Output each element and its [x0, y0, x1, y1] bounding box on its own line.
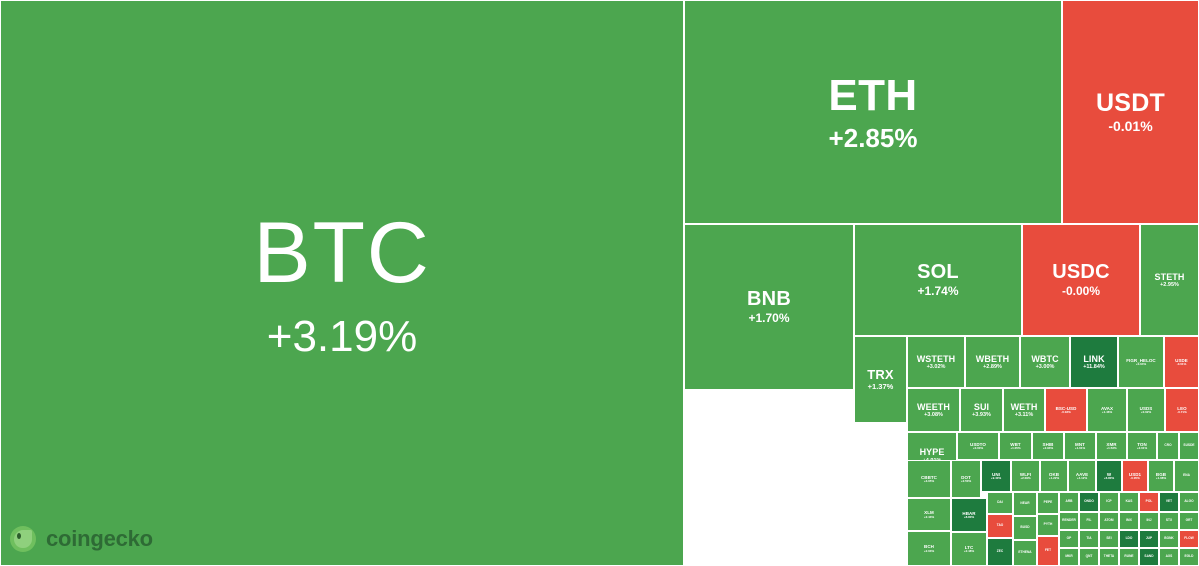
tile-symbol: NEAR: [1020, 502, 1029, 506]
treemap-tile-imx[interactable]: IMX+2.70%: [1119, 512, 1139, 530]
tile-symbol: STX: [1166, 519, 1172, 523]
treemap-tile-ethena[interactable]: ETHENA+1.50%: [1013, 540, 1037, 566]
treemap-tile-mnt[interactable]: MNT+1.01%: [1064, 432, 1096, 460]
treemap-tile-pepe[interactable]: PEPE+2.10%: [1037, 492, 1059, 514]
tile-symbol: RENDER: [1062, 519, 1076, 523]
treemap-tile-steth[interactable]: STETH+2.95%: [1140, 224, 1199, 336]
tile-symbol: ARB: [1065, 500, 1072, 504]
tile-symbol: BONK: [1164, 537, 1174, 541]
tile-percent-change: +11.84%: [1083, 364, 1105, 370]
tile-symbol: QNT: [1086, 555, 1093, 559]
treemap-tile-qnt[interactable]: QNT+1.50%: [1079, 548, 1099, 566]
tile-symbol: ATOM: [1104, 519, 1113, 523]
treemap-tile-hbar[interactable]: HBAR+8.80%: [951, 498, 987, 532]
tile-percent-change: +0.00%: [973, 447, 983, 450]
treemap-tile-axs[interactable]: AXS+1.30%: [1159, 548, 1179, 566]
treemap-tile-flow[interactable]: FLOW-0.40%: [1179, 530, 1199, 548]
tile-symbol: SEI: [1106, 537, 1111, 541]
treemap-tile-bnb[interactable]: BNB+1.70%: [684, 224, 854, 390]
tile-percent-change: -0.01%: [1177, 363, 1187, 366]
tile-percent-change: -0.05%: [1130, 477, 1140, 480]
treemap-tile-vet[interactable]: VET+5.10%: [1159, 492, 1179, 512]
treemap-tile-wbtc[interactable]: WBTC+3.00%: [1020, 336, 1070, 388]
tile-symbol: FIL: [1087, 519, 1092, 523]
treemap-tile-inj[interactable]: INJ+3.50%: [1139, 512, 1159, 530]
treemap-tile-usd1[interactable]: USD1-0.05%: [1122, 460, 1148, 492]
treemap-tile-atom[interactable]: ATOM+1.80%: [1099, 512, 1119, 530]
tile-percent-change: +6.80%: [1104, 477, 1114, 480]
tile-symbol: BUSD: [1020, 526, 1029, 530]
treemap-tile-render[interactable]: RENDER+2.20%: [1059, 512, 1079, 530]
tile-symbol: ZEC: [997, 550, 1003, 554]
treemap-tile-jup[interactable]: JUP+2.80%: [1139, 530, 1159, 548]
treemap-tile-arb[interactable]: ARB+2.30%: [1059, 492, 1079, 512]
tile-symbol: ETHENA: [1018, 551, 1031, 555]
treemap-tile-usdto[interactable]: USDTO+0.00%: [957, 432, 999, 460]
treemap-tile-ldo[interactable]: LDO+4.20%: [1119, 530, 1139, 548]
tile-percent-change: +3.11%: [1015, 412, 1034, 418]
treemap-tile-sei[interactable]: SEI+3.10%: [1099, 530, 1119, 548]
tile-symbol: LDO: [1126, 537, 1133, 541]
tile-symbol: HYPE: [920, 447, 945, 457]
tile-symbol: BTC: [253, 205, 430, 301]
treemap-tile-kas[interactable]: KAS+2.60%: [1119, 492, 1139, 512]
tile-symbol: WETH: [1011, 402, 1038, 412]
treemap-tile-stx[interactable]: STX+1.30%: [1159, 512, 1179, 530]
tile-symbol: INJ: [1146, 519, 1151, 523]
treemap-tile-trx[interactable]: TRX+1.37%: [854, 336, 907, 423]
tile-percent-change: +4.12%: [1077, 477, 1087, 480]
tile-percent-change: +1.01%: [1075, 447, 1085, 450]
tile-symbol: USDT: [1096, 89, 1165, 117]
tile-percent-change: +1.74%: [917, 285, 958, 298]
tile-symbol: SUI: [974, 402, 989, 412]
treemap-tile-wbt[interactable]: WBT+1.05%: [999, 432, 1032, 460]
treemap-tile-busd[interactable]: BUSD+0.00%: [1013, 516, 1037, 540]
treemap-tile-w[interactable]: W+6.80%: [1096, 460, 1122, 492]
treemap-tile-wbeth[interactable]: WBETH+2.89%: [965, 336, 1020, 388]
treemap-tile-susde[interactable]: SUSDE+0.01%: [1179, 432, 1199, 460]
treemap-tile-link[interactable]: LINK+11.84%: [1070, 336, 1118, 388]
tile-symbol: OP: [1067, 537, 1072, 541]
tile-symbol: TIA: [1086, 537, 1091, 541]
tile-percent-change: +1.46%: [1102, 411, 1112, 414]
tile-symbol: LINK: [1083, 354, 1104, 364]
treemap-tile-eth[interactable]: ETH+2.85%: [684, 0, 1062, 224]
tile-percent-change: +1.53%: [1106, 447, 1116, 450]
tile-symbol: AXS: [1166, 555, 1173, 559]
treemap-tile-ena[interactable]: ENA+3.10%: [1174, 460, 1199, 492]
tile-percent-change: -0.00%: [1062, 285, 1100, 298]
tile-symbol: BNB: [747, 288, 791, 310]
tile-percent-change: +1.08%: [1156, 477, 1166, 480]
treemap-tile-weth[interactable]: WETH+3.11%: [1003, 388, 1045, 432]
tile-symbol: PEPE: [1044, 501, 1053, 505]
tile-percent-change: +2.43%: [924, 516, 934, 519]
tile-symbol: WBTC: [1031, 354, 1058, 364]
treemap-tile-ondo[interactable]: ONDO+3.40%: [1079, 492, 1099, 512]
tile-symbol: FET: [1045, 549, 1051, 553]
tile-symbol: CRO: [1164, 444, 1171, 448]
treemap-tile-op[interactable]: OP+1.90%: [1059, 530, 1079, 548]
treemap-tile-rune[interactable]: RUNE+1.70%: [1119, 548, 1139, 566]
tile-percent-change: +2.09%: [1020, 477, 1030, 480]
tile-symbol: TRX: [867, 368, 893, 383]
treemap-tile-cbbtc[interactable]: CBBTC+3.05%: [907, 460, 951, 498]
tile-percent-change: +2.93%: [1043, 447, 1053, 450]
treemap-tile-grt[interactable]: GRT+2.00%: [1179, 512, 1199, 530]
tile-symbol: JUP: [1146, 537, 1152, 541]
tile-symbol: SUSDE: [1183, 444, 1194, 448]
treemap-tile-icp[interactable]: ICP+1.20%: [1099, 492, 1119, 512]
tile-percent-change: +3.08%: [924, 412, 943, 418]
treemap-tile-mkr[interactable]: MKR+1.10%: [1059, 548, 1079, 566]
treemap-tile-xlm[interactable]: XLM+2.43%: [907, 498, 951, 531]
tile-symbol: MKR: [1065, 555, 1072, 559]
treemap-tile-uni[interactable]: UNI+9.40%: [981, 460, 1011, 492]
crypto-treemap-chart: BTC+3.19%ETH+2.85%USDT-0.01%BNB+1.70%SOL…: [0, 0, 1199, 566]
treemap-tile-usds[interactable]: USDS+0.02%: [1127, 388, 1165, 432]
treemap-tile-usdc[interactable]: USDC-0.00%: [1022, 224, 1140, 336]
tile-percent-change: -0.71%: [1177, 411, 1187, 414]
tile-percent-change: +9.40%: [991, 477, 1001, 480]
tile-percent-change: +2.50%: [961, 480, 971, 483]
treemap-tile-wsteth[interactable]: WSTETH+3.02%: [907, 336, 965, 388]
tile-symbol: FLOW: [1184, 537, 1194, 541]
tile-percent-change: +1.05%: [1010, 447, 1020, 450]
tile-percent-change: +1.37%: [868, 383, 894, 391]
tile-symbol: ETH: [828, 71, 917, 120]
tile-symbol: WEETH: [917, 402, 950, 412]
tile-symbol: DAI: [997, 501, 1003, 505]
tile-percent-change: +8.80%: [964, 516, 974, 519]
tile-symbol: ENA: [1183, 474, 1190, 478]
tile-percent-change: +2.95%: [1160, 282, 1179, 288]
treemap-tile-okb[interactable]: OKB+1.22%: [1040, 460, 1068, 492]
tile-symbol: TAO: [997, 524, 1004, 528]
tile-symbol: RUNE: [1124, 555, 1133, 559]
treemap-tile-egld[interactable]: EGLD+2.50%: [1179, 548, 1199, 566]
tile-percent-change: +2.48%: [964, 550, 974, 553]
treemap-tile-weeth[interactable]: WEETH+3.08%: [907, 388, 960, 432]
tile-symbol: POL: [1146, 500, 1153, 504]
tile-symbol: VET: [1166, 500, 1172, 504]
treemap-tile-bgb[interactable]: BGB+1.08%: [1148, 460, 1174, 492]
tile-symbol: ICP: [1106, 500, 1111, 504]
tile-percent-change: +3.19%: [267, 312, 417, 361]
tile-symbol: USDC: [1052, 261, 1109, 283]
tile-percent-change: +0.04%: [1136, 363, 1146, 366]
treemap-tile-btc[interactable]: BTC+3.19%: [0, 0, 684, 566]
treemap-tile-pol[interactable]: POL-0.90%: [1139, 492, 1159, 512]
tile-percent-change: +1.22%: [1049, 477, 1059, 480]
treemap-tile-near[interactable]: NEAR+2.00%: [1013, 492, 1037, 516]
tile-percent-change: +3.93%: [972, 412, 991, 418]
tile-percent-change: +2.01%: [1137, 447, 1147, 450]
treemap-tile-pyth[interactable]: PYTH+1.90%: [1037, 514, 1059, 536]
treemap-tile-sand[interactable]: SAND+0.90%: [1139, 548, 1159, 566]
tile-symbol: SAND: [1144, 555, 1153, 559]
treemap-tile-aave[interactable]: AAVE+4.12%: [1068, 460, 1096, 492]
tile-percent-change: +2.89%: [983, 364, 1002, 370]
tile-symbol: GRT: [1186, 519, 1193, 523]
tile-symbol: SOL: [917, 261, 959, 283]
treemap-tile-theta[interactable]: THETA+2.10%: [1099, 548, 1119, 566]
tile-symbol: IMX: [1126, 519, 1132, 523]
tile-symbol: STETH: [1155, 272, 1185, 282]
treemap-tile-fil[interactable]: FIL+1.40%: [1079, 512, 1099, 530]
tile-percent-change: +1.70%: [748, 312, 789, 325]
treemap-tile-wlfi[interactable]: WLFI+2.09%: [1011, 460, 1040, 492]
treemap-tile-bch[interactable]: BCH+2.03%: [907, 531, 951, 566]
tile-percent-change: -0.01%: [1108, 119, 1152, 135]
tile-symbol: KAS: [1126, 500, 1133, 504]
treemap-tile-bsc-usd[interactable]: BSC-USD-0.03%: [1045, 388, 1087, 432]
treemap-tile-ltc[interactable]: LTC+2.48%: [951, 532, 987, 566]
treemap-tile-xmr[interactable]: XMR+1.53%: [1096, 432, 1127, 460]
treemap-tile-shib[interactable]: SHIB+2.93%: [1032, 432, 1064, 460]
treemap-tile-zec[interactable]: ZEC+18.00%: [987, 538, 1013, 566]
tile-percent-change: +0.02%: [1141, 411, 1151, 414]
treemap-tile-tia[interactable]: TIA+2.40%: [1079, 530, 1099, 548]
tile-symbol: EGLD: [1185, 555, 1194, 559]
tile-percent-change: +3.00%: [1036, 364, 1055, 370]
tile-percent-change: +2.03%: [924, 550, 934, 553]
treemap-tile-bonk[interactable]: BONK+1.60%: [1159, 530, 1179, 548]
treemap-tile-tao[interactable]: TAO+4.60%: [987, 514, 1013, 538]
tile-percent-change: -0.03%: [1061, 411, 1071, 414]
treemap-tile-avax[interactable]: AVAX+1.46%: [1087, 388, 1127, 432]
tile-percent-change: +3.05%: [924, 480, 934, 483]
treemap-tile-usde[interactable]: USDE-0.01%: [1164, 336, 1199, 388]
tile-symbol: WBETH: [976, 354, 1009, 364]
treemap-tile-leo[interactable]: LEO-0.71%: [1165, 388, 1199, 432]
treemap-tile-ton[interactable]: TON+2.01%: [1127, 432, 1157, 460]
treemap-tile-sol[interactable]: SOL+1.74%: [854, 224, 1022, 336]
treemap-tile-fet[interactable]: FET-1.10%: [1037, 536, 1059, 566]
treemap-tile-figr-heloc[interactable]: FIGR_HELOC+0.04%: [1118, 336, 1164, 388]
treemap-tile-dai[interactable]: DAI+0.02%: [987, 492, 1013, 514]
tile-symbol: WSTETH: [917, 354, 956, 364]
tile-symbol: PYTH: [1044, 523, 1053, 527]
treemap-tile-dot[interactable]: DOT+2.50%: [951, 460, 981, 498]
tile-symbol: ONDO: [1084, 500, 1094, 504]
treemap-tile-algo[interactable]: ALGO+1.70%: [1179, 492, 1199, 512]
tile-symbol: THETA: [1104, 555, 1115, 559]
treemap-tile-sui[interactable]: SUI+3.93%: [960, 388, 1003, 432]
treemap-tile-cro[interactable]: CRO+1.20%: [1157, 432, 1179, 460]
tile-symbol: ALGO: [1184, 500, 1193, 504]
tile-percent-change: +2.85%: [829, 124, 918, 153]
tile-percent-change: +3.02%: [927, 364, 946, 370]
treemap-tile-usdt[interactable]: USDT-0.01%: [1062, 0, 1199, 224]
